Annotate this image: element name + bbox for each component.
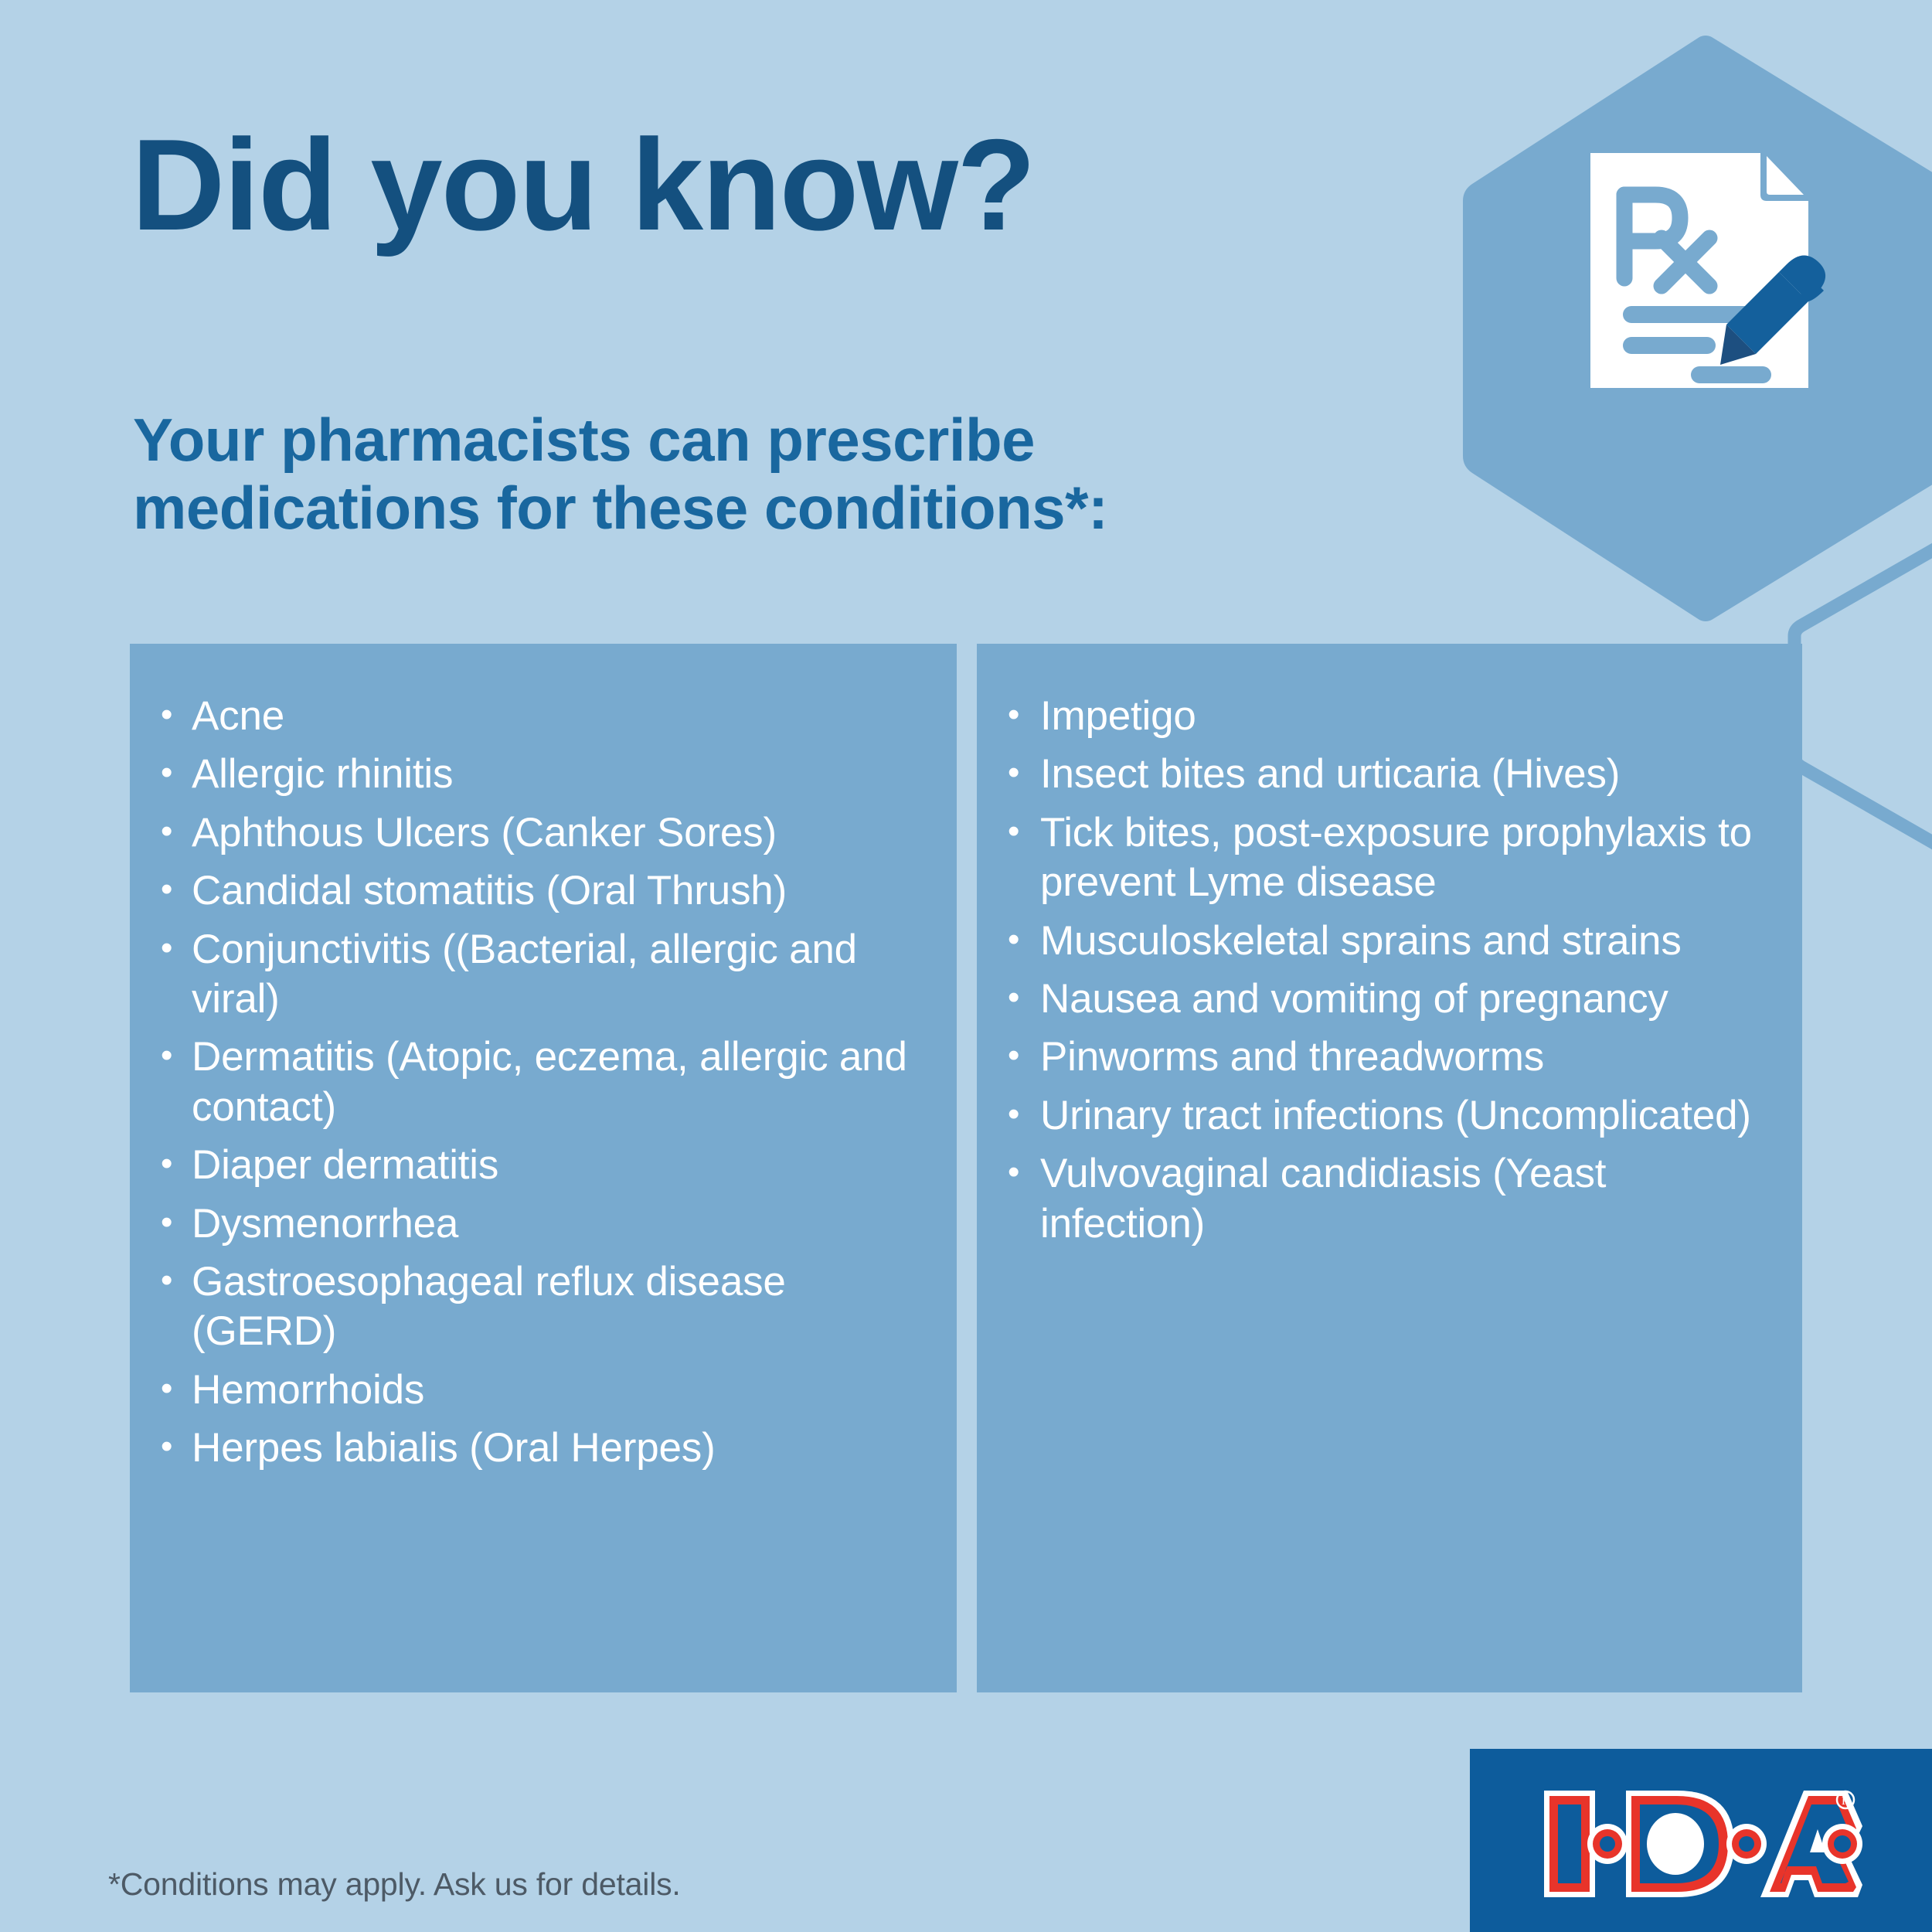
list-item: Candidal stomatitis (Oral Thrush) (156, 866, 930, 916)
page-title: Did you know? (131, 120, 1035, 250)
list-item: Herpes labialis (Oral Herpes) (156, 1423, 930, 1473)
subtitle-line-1: Your pharmacists can prescribe (133, 406, 1108, 474)
list-item: Vulvovaginal candidiasis (Yeast infectio… (1003, 1149, 1776, 1249)
conditions-panel-right: Impetigo Insect bites and urticaria (Hiv… (977, 644, 1802, 1692)
list-item: Gastroesophageal reflux disease (GERD) (156, 1257, 930, 1357)
list-item: Conjunctivitis ((Bacterial, allergic and… (156, 925, 930, 1025)
list-item: Impetigo (1003, 692, 1776, 741)
list-item: Aphthous Ulcers (Canker Sores) (156, 808, 930, 858)
list-item: Pinworms and threadworms (1003, 1032, 1776, 1082)
conditions-panel-left: Acne Allergic rhinitis Aphthous Ulcers (… (130, 644, 957, 1692)
list-item: Dermatitis (Atopic, eczema, allergic and… (156, 1032, 930, 1132)
list-item: Acne (156, 692, 930, 741)
subtitle-line-2: medications for these conditions*: (133, 474, 1108, 542)
list-item: Diaper dermatitis (156, 1141, 930, 1190)
list-item: Nausea and vomiting of pregnancy (1003, 975, 1776, 1024)
list-item: Tick bites, post-exposure prophylaxis to… (1003, 808, 1776, 908)
list-item: Hemorrhoids (156, 1366, 930, 1415)
list-item: Dysmenorrhea (156, 1199, 930, 1249)
svg-text:R: R (1842, 1795, 1849, 1808)
list-item: Urinary tract infections (Uncomplicated) (1003, 1091, 1776, 1141)
ida-logo-icon: R (1539, 1786, 1864, 1902)
ida-logo-block: R (1470, 1749, 1932, 1932)
list-item: Insect bites and urticaria (Hives) (1003, 750, 1776, 799)
list-item: Allergic rhinitis (156, 750, 930, 799)
footnote-disclaimer: *Conditions may apply. Ask us for detail… (108, 1866, 681, 1903)
page-subtitle: Your pharmacists can prescribe medicatio… (133, 406, 1108, 542)
conditions-list-left: Acne Allergic rhinitis Aphthous Ulcers (… (156, 692, 930, 1473)
conditions-list-right: Impetigo Insect bites and urticaria (Hiv… (1003, 692, 1776, 1249)
list-item: Musculoskeletal sprains and strains (1003, 917, 1776, 966)
infographic-poster: Did you know? Your pharmacists can presc… (0, 0, 1932, 1932)
rx-prescription-icon (1584, 147, 1839, 394)
